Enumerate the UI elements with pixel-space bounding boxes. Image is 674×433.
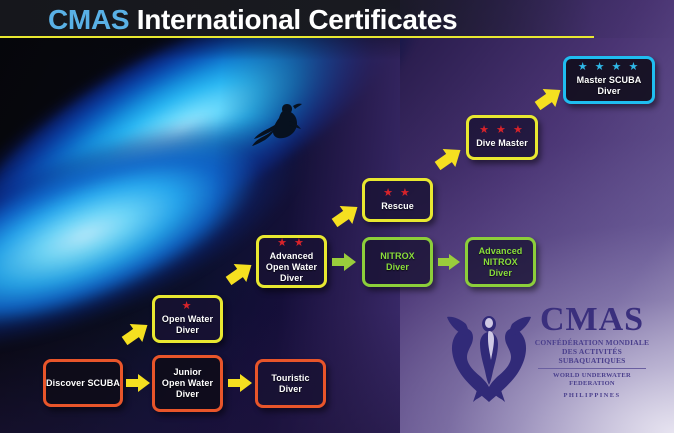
arrow-dive-master-to-master-scuba xyxy=(533,83,565,113)
cmas-logo-text: CMAS CONFÉDÉRATION MONDIALE DES ACTIVITÉ… xyxy=(532,302,652,400)
cert-stars: ★ ★ ★ xyxy=(479,126,525,135)
arrow-advanced-to-nitrox xyxy=(331,251,357,273)
cmas-tagline-line1: CONFÉDÉRATION MONDIALE xyxy=(532,338,652,347)
cmas-logo: CMAS CONFÉDÉRATION MONDIALE DES ACTIVITÉ… xyxy=(446,300,651,412)
cert-label: Master SCUBA Diver xyxy=(577,75,642,97)
cert-label: NITROX Diver xyxy=(380,251,415,273)
cert-rescue[interactable]: ★ ★ Rescue xyxy=(362,178,433,222)
cert-discover-scuba[interactable]: Discover SCUBA xyxy=(43,359,123,407)
cert-label: Touristic Diver xyxy=(271,373,309,395)
cmas-logo-divider xyxy=(538,368,646,369)
cmas-emblem-icon xyxy=(446,302,532,408)
arrow-advanced-to-rescue xyxy=(330,200,362,230)
arrow-junior-to-touristic xyxy=(227,372,253,394)
cert-label: Advanced NITROX Diver xyxy=(479,246,523,279)
poster-canvas: CMAS International Certificates Discover… xyxy=(0,0,674,433)
cert-nitrox-diver[interactable]: NITROX Diver xyxy=(362,237,433,287)
cert-master-scuba-diver[interactable]: ★ ★ ★ ★ Master SCUBA Diver xyxy=(563,56,655,104)
cert-stars: ★ ★ xyxy=(383,189,412,198)
cert-label: Rescue xyxy=(381,201,414,212)
title-brand: CMAS xyxy=(48,4,129,35)
cmas-wordmark: CMAS xyxy=(532,302,652,338)
cert-stars: ★ xyxy=(182,302,194,311)
cert-label: Open Water Diver xyxy=(162,314,213,336)
cert-touristic-diver[interactable]: Touristic Diver xyxy=(255,359,326,408)
title-underline-rule xyxy=(0,36,594,38)
cert-label: Dive Master xyxy=(476,138,528,149)
page-title: CMAS International Certificates xyxy=(48,4,457,36)
cert-stars: ★ ★ ★ ★ xyxy=(578,63,641,72)
cert-label: Advanced Open Water Diver xyxy=(266,251,317,284)
arrow-discover-to-junior xyxy=(125,372,151,394)
cert-dive-master[interactable]: ★ ★ ★ Dive Master xyxy=(466,115,538,160)
diver-silhouette-icon xyxy=(243,100,307,158)
arrow-nitrox-to-advanced-nitrox xyxy=(437,252,461,272)
cert-open-water[interactable]: ★ Open Water Diver xyxy=(152,295,223,343)
cert-label: Junior Open Water Diver xyxy=(162,367,213,400)
cert-junior-open-water[interactable]: Junior Open Water Diver xyxy=(152,355,223,412)
cert-stars: ★ ★ xyxy=(277,239,306,248)
arrow-rescue-to-dive-master xyxy=(433,143,465,173)
cmas-tagline-line2: DES ACTIVITÉS SUBAQUATIQUES xyxy=(532,347,652,365)
cert-advanced-nitrox-diver[interactable]: Advanced NITROX Diver xyxy=(465,237,536,287)
title-rest: International Certificates xyxy=(129,4,457,35)
cmas-tagline-line3: WORLD UNDERWATER FEDERATION xyxy=(532,372,652,388)
cert-label: Discover SCUBA xyxy=(46,378,120,389)
cmas-country: PHILIPPINES xyxy=(532,391,652,400)
cert-advanced-open-water[interactable]: ★ ★ Advanced Open Water Diver xyxy=(256,235,327,288)
arrow-discover-to-open-water xyxy=(120,318,152,348)
arrow-open-water-to-advanced xyxy=(224,258,256,288)
